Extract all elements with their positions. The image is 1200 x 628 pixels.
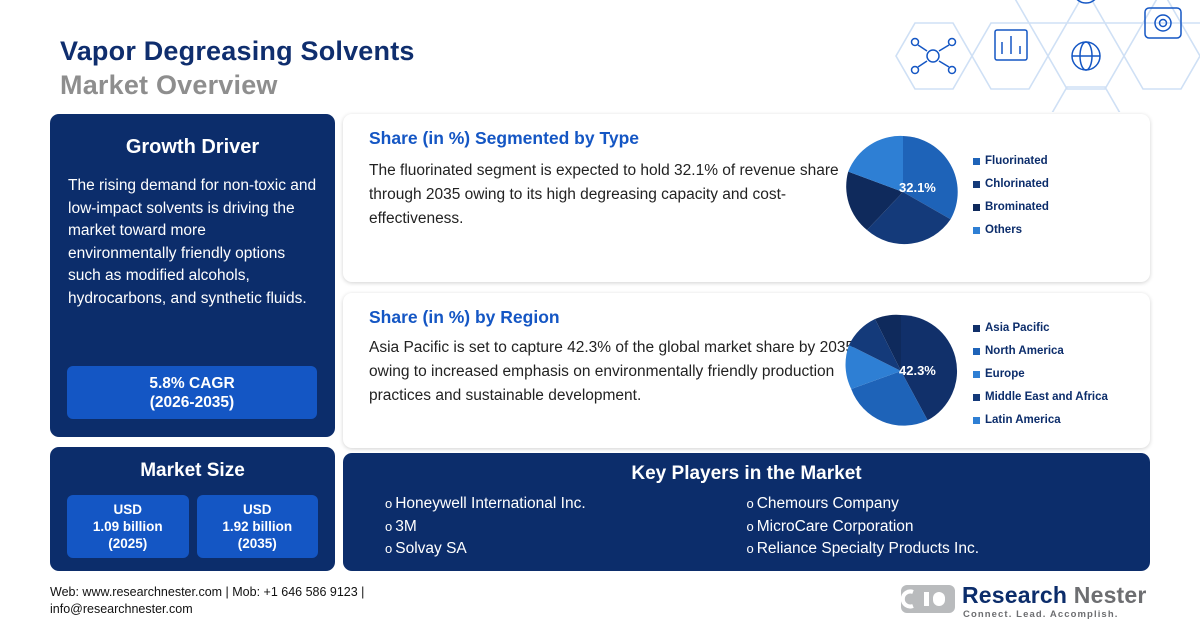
pie-chart-type: 32.1% <box>843 132 963 257</box>
legend-item: Latin America <box>973 409 1108 432</box>
cagr-period: (2026-2035) <box>150 394 234 411</box>
cagr-badge: 5.8% CAGR (2026-2035) <box>67 366 317 419</box>
legend-label: Middle East and Africa <box>985 386 1108 409</box>
bullet-icon: o <box>385 516 392 539</box>
page-title: Vapor Degreasing Solvents Market Overvie… <box>60 34 415 102</box>
market-size-title: Market Size <box>50 460 335 482</box>
brand-logo: Research Nester Connect. Lead. Accomplis… <box>900 582 1150 622</box>
legend-label: Latin America <box>985 409 1061 432</box>
pie-chart-region: 42.3% <box>841 311 961 436</box>
player-name: Chemours Company <box>757 493 899 516</box>
pie-region-data-label: 42.3% <box>899 363 936 378</box>
key-players-column-left: oHoneywell International Inc. o3M oSolva… <box>385 493 747 561</box>
growth-driver-card: Growth Driver The rising demand for non-… <box>50 114 335 437</box>
share-by-type-text: The fluorinated segment is expected to h… <box>369 159 839 231</box>
legend-swatch-icon <box>973 158 980 165</box>
brand-tagline: Connect. Lead. Accomplish. <box>963 609 1118 620</box>
msize-currency: USD <box>243 502 272 517</box>
legend-item: Middle East and Africa <box>973 386 1108 409</box>
pie-type-data-label: 32.1% <box>899 180 936 195</box>
brand-name-bold: Research <box>962 582 1067 608</box>
list-item: oReliance Specialty Products Inc. <box>747 538 1109 561</box>
legend-label: Others <box>985 219 1022 242</box>
legend-swatch-icon <box>973 181 980 188</box>
research-nester-mark-icon <box>900 582 956 616</box>
hexagon-decoration-icon <box>860 0 1200 112</box>
legend-swatch-icon <box>973 227 980 234</box>
cagr-value: 5.8% CAGR <box>149 375 234 392</box>
msize-amount: 1.09 billion <box>93 519 163 534</box>
infographic-page: Vapor Degreasing Solvents Market Overvie… <box>0 0 1200 628</box>
legend-item: North America <box>973 340 1108 363</box>
list-item: oChemours Company <box>747 493 1109 516</box>
market-size-values: USD 1.09 billion (2025) USD 1.92 billion… <box>67 495 318 558</box>
legend-swatch-icon <box>973 348 980 355</box>
market-size-card: Market Size USD 1.09 billion (2025) USD … <box>50 447 335 571</box>
legend-item: Asia Pacific <box>973 317 1108 340</box>
list-item: oHoneywell International Inc. <box>385 493 747 516</box>
legend-item: Brominated <box>973 196 1049 219</box>
player-name: MicroCare Corporation <box>757 516 914 539</box>
key-players-columns: oHoneywell International Inc. o3M oSolva… <box>343 493 1150 561</box>
player-name: Reliance Specialty Products Inc. <box>757 538 979 561</box>
msize-amount: 1.92 billion <box>222 519 292 534</box>
market-size-box-2025: USD 1.09 billion (2025) <box>67 495 189 558</box>
legend-swatch-icon <box>973 371 980 378</box>
bullet-icon: o <box>385 493 392 516</box>
growth-driver-body: The rising demand for non-toxic and low-… <box>68 175 317 310</box>
legend-label: Europe <box>985 363 1025 386</box>
list-item: oSolvay SA <box>385 538 747 561</box>
bullet-icon: o <box>747 538 754 561</box>
brand-name: Research Nester <box>962 582 1147 609</box>
footer-line-1: Web: www.researchnester.com | Mob: +1 64… <box>50 584 364 601</box>
legend-item: Others <box>973 219 1049 242</box>
key-players-title: Key Players in the Market <box>343 463 1150 485</box>
legend-label: Asia Pacific <box>985 317 1050 340</box>
brand-name-light: Nester <box>1067 582 1146 608</box>
bullet-icon: o <box>747 516 754 539</box>
legend-item: Chlorinated <box>973 173 1049 196</box>
key-players-card: Key Players in the Market oHoneywell Int… <box>343 453 1150 571</box>
msize-currency: USD <box>113 502 142 517</box>
legend-share-by-type: Fluorinated Chlorinated Brominated Other… <box>973 150 1049 242</box>
share-by-type-card: Share (in %) Segmented by Type The fluor… <box>343 114 1150 282</box>
share-by-region-card: Share (in %) by Region Asia Pacific is s… <box>343 293 1150 448</box>
title-line-2: Market Overview <box>60 68 415 102</box>
legend-share-by-region: Asia Pacific North America Europe Middle… <box>973 317 1108 432</box>
legend-label: Fluorinated <box>985 150 1048 173</box>
footer-line-2: info@researchnester.com <box>50 601 364 618</box>
msize-year: (2035) <box>238 536 277 551</box>
player-name: Honeywell International Inc. <box>395 493 585 516</box>
legend-swatch-icon <box>973 417 980 424</box>
legend-swatch-icon <box>973 394 980 401</box>
msize-year: (2025) <box>108 536 147 551</box>
player-name: Solvay SA <box>395 538 467 561</box>
growth-driver-title: Growth Driver <box>50 136 335 159</box>
legend-swatch-icon <box>973 325 980 332</box>
title-line-1: Vapor Degreasing Solvents <box>60 34 415 68</box>
legend-label: Chlorinated <box>985 173 1049 196</box>
player-name: 3M <box>395 516 417 539</box>
share-by-type-title: Share (in %) Segmented by Type <box>369 128 1150 149</box>
list-item: o3M <box>385 516 747 539</box>
list-item: oMicroCare Corporation <box>747 516 1109 539</box>
key-players-column-right: oChemours Company oMicroCare Corporation… <box>747 493 1109 561</box>
bullet-icon: o <box>747 493 754 516</box>
market-size-box-2035: USD 1.92 billion (2035) <box>197 495 319 558</box>
legend-label: Brominated <box>985 196 1049 219</box>
legend-item: Europe <box>973 363 1108 386</box>
footer-contact: Web: www.researchnester.com | Mob: +1 64… <box>50 584 364 618</box>
legend-item: Fluorinated <box>973 150 1049 173</box>
legend-label: North America <box>985 340 1064 363</box>
bullet-icon: o <box>385 538 392 561</box>
legend-swatch-icon <box>973 204 980 211</box>
share-by-region-text: Asia Pacific is set to capture 42.3% of … <box>369 336 869 408</box>
